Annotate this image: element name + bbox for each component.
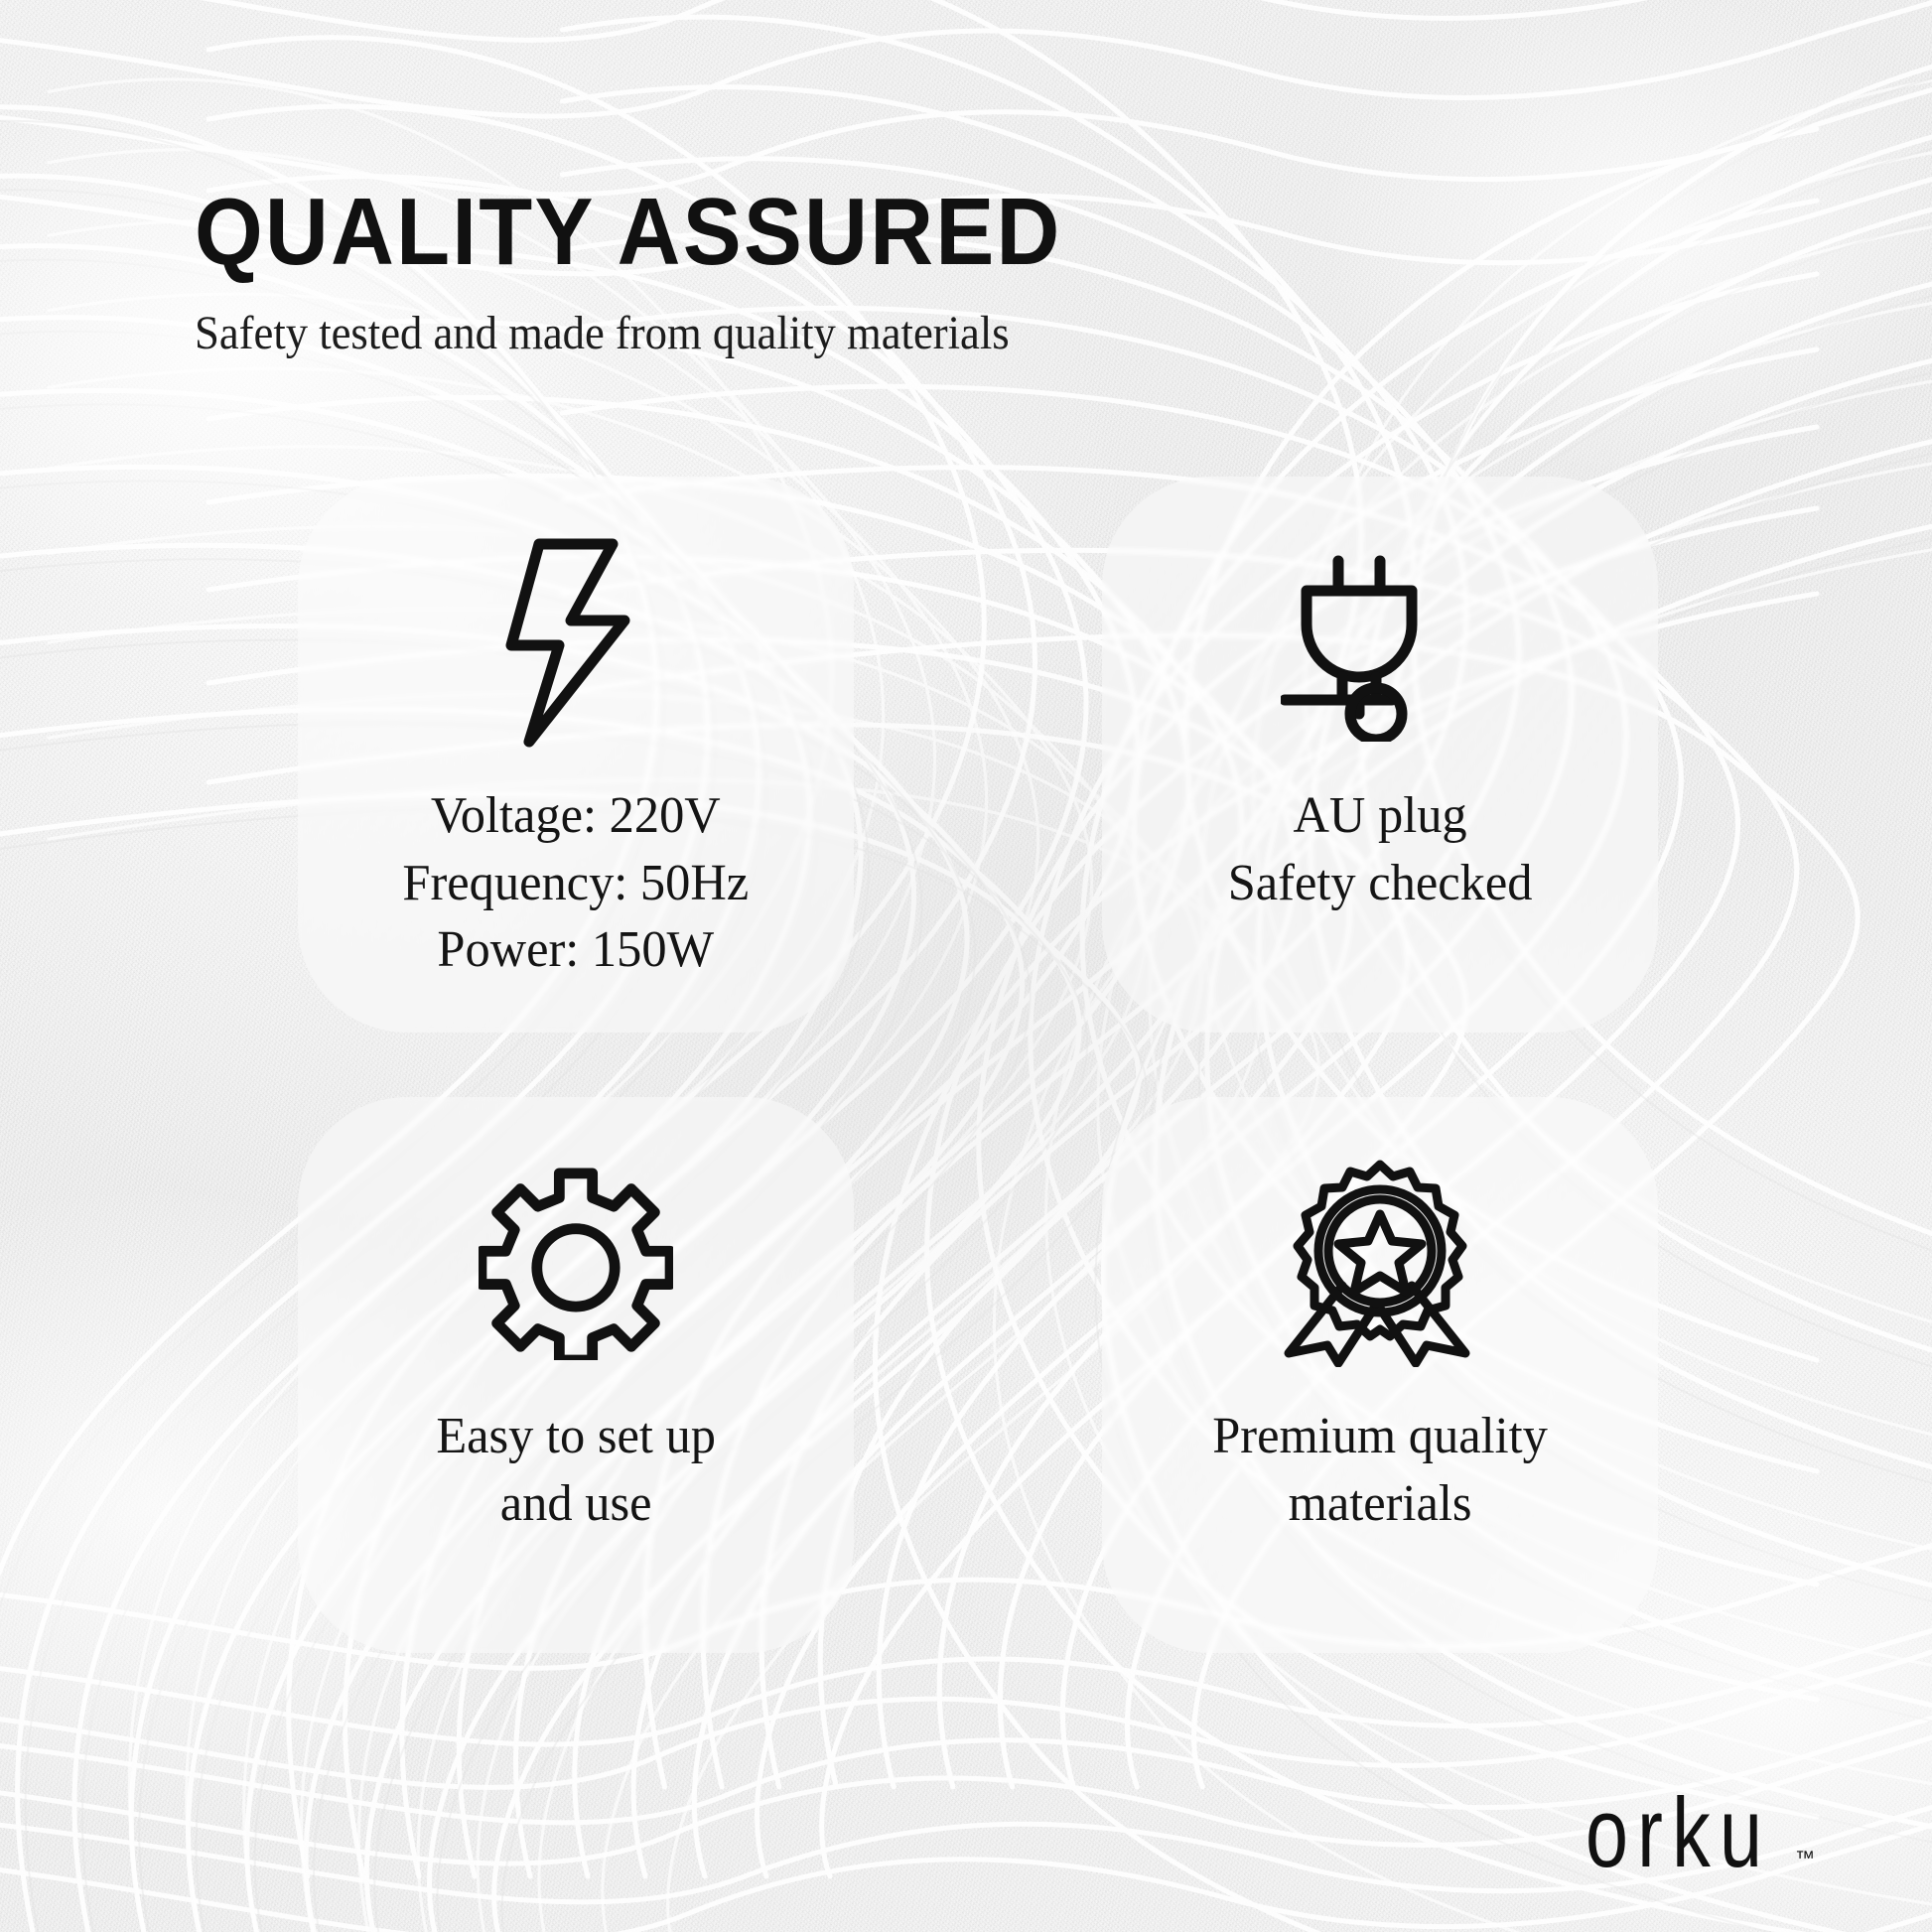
lightning-bolt-icon: [501, 528, 650, 757]
trademark-symbol: ™: [1795, 1848, 1815, 1870]
feature-card-text: Voltage: 220V Frequency: 50Hz Power: 150…: [403, 782, 750, 984]
feature-card-text: Premium quality materials: [1212, 1403, 1548, 1537]
header: QUALITY ASSURED Safety tested and made f…: [195, 185, 1436, 360]
feature-card-text: AU plug Safety checked: [1228, 782, 1533, 916]
gear-icon: [479, 1149, 673, 1377]
feature-card-grid: Voltage: 220V Frequency: 50Hz Power: 150…: [298, 477, 1658, 1653]
feature-card-plug: AU plug Safety checked: [1102, 477, 1658, 1033]
power-plug-icon: [1281, 528, 1479, 757]
feature-card-setup: Easy to set up and use: [298, 1097, 854, 1653]
feature-card-specifications: Voltage: 220V Frequency: 50Hz Power: 150…: [298, 477, 854, 1033]
page-subtitle: Safety tested and made from quality mate…: [195, 308, 1349, 360]
feature-card-text: Easy to set up and use: [436, 1403, 716, 1537]
page-title: QUALITY ASSURED: [195, 185, 1336, 280]
award-rosette-icon: [1281, 1149, 1479, 1377]
brand-logo: orku ™: [1586, 1801, 1815, 1880]
brand-logo-wordmark: orku: [1586, 1787, 1771, 1880]
feature-card-quality: Premium quality materials: [1102, 1097, 1658, 1653]
infographic-page: QUALITY ASSURED Safety tested and made f…: [0, 0, 1932, 1932]
